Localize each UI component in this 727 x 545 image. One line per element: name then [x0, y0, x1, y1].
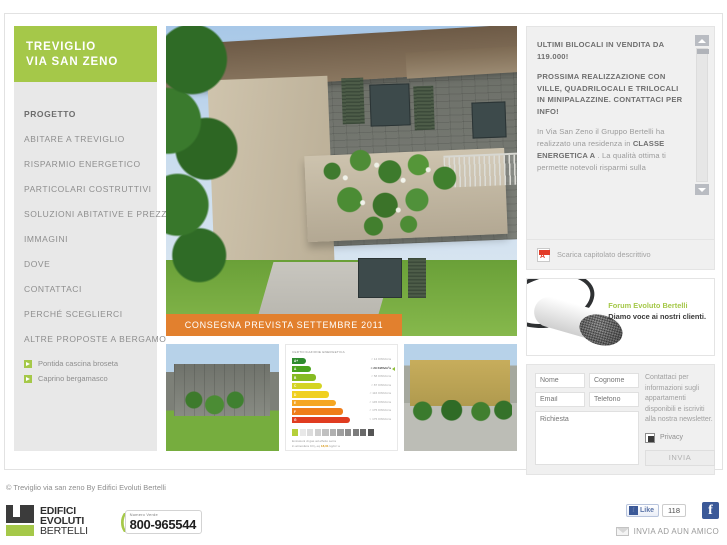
sidebar-nav: PROGETTO ABITARE A TREVIGLIO RISPARMIO E…	[14, 82, 157, 386]
co2-caption: Emissioni di gas ad effetto serra in atm…	[292, 439, 392, 448]
news-panel: ULTIMI BILOCALI IN VENDITA DA 119.000! P…	[526, 26, 715, 270]
co2-caption-suffix: kg/m² a	[329, 444, 340, 448]
arrow-right-icon	[24, 375, 32, 383]
hero-shutter-right	[413, 86, 435, 131]
toll-free-phone[interactable]: ( Numero Verde 800-965544	[120, 510, 202, 534]
thumbnail-strip: CERTIFICAZIONE ENERGETICA A+ < 14 KWh/m²…	[166, 344, 517, 451]
main-card: TREVIGLIO VIA SAN ZENO PROGETTO ABITARE …	[4, 13, 723, 470]
send-to-friend-label: INVIA AD AUN AMICO	[634, 527, 719, 536]
submit-button[interactable]: INVIA	[645, 450, 715, 466]
contact-row-1	[535, 373, 639, 388]
privacy-checkbox-row[interactable]: Privacy	[645, 433, 715, 443]
sidebar-title-line2: VIA SAN ZENO	[26, 55, 145, 70]
social-bar: f Like 118 f	[626, 502, 719, 519]
hero-shutter-ground	[408, 258, 426, 298]
hero-shutter-left	[341, 78, 365, 125]
logo-mark-icon	[6, 505, 34, 537]
company-logo: EDIFICI EVOLUTI BERTELLI	[6, 505, 88, 537]
phone-number: 800-965544	[130, 517, 196, 532]
forum-banner[interactable]: Forum Evoluto Bertelli Diamo voce ai nos…	[526, 278, 715, 356]
cert-row: D < 116 KWh/m²a	[292, 391, 392, 398]
telefono-field[interactable]	[589, 392, 639, 407]
co2-cell	[360, 429, 366, 437]
hero-image[interactable]: CONSEGNA PREVISTA SETTEMBRE 2011	[166, 26, 517, 336]
cert-bar-label: B	[292, 374, 316, 380]
sidebar-item-progetto[interactable]: PROGETTO	[14, 102, 157, 127]
contact-row-2	[535, 392, 639, 407]
facebook-like-button[interactable]: f Like	[626, 504, 659, 517]
co2-caption-prefix: in atmosfera CO₂ eq	[292, 444, 321, 448]
email-field[interactable]	[535, 392, 585, 407]
cert-bars: A+ < 14 KWh/m²a A < 29 KWh/m²a B < 58 KW…	[292, 357, 392, 424]
sidebar-sublink-label: Caprino bergamasco	[38, 374, 108, 383]
arrow-right-icon	[24, 360, 32, 368]
sidebar-item-immagini[interactable]: IMMAGINI	[14, 227, 157, 252]
cognome-field[interactable]	[589, 373, 639, 388]
cert-value: < 87 KWh/m²a	[371, 383, 391, 387]
pdf-icon	[537, 248, 550, 262]
news-body: In Via San Zeno il Gruppo Bertelli ha re…	[537, 126, 688, 174]
sidebar-header: TREVIGLIO VIA SAN ZENO	[14, 26, 157, 82]
scroll-up-icon[interactable]	[695, 35, 709, 46]
co2-caption-line2: in atmosfera CO₂ eq 18,01 kg/m² a	[292, 444, 392, 449]
sidebar-item-contattaci[interactable]: CONTATTACI	[14, 277, 157, 302]
sidebar-item-dove[interactable]: DOVE	[14, 252, 157, 277]
logo-m-shape	[6, 505, 34, 523]
like-count: 118	[662, 504, 686, 517]
co2-cell	[300, 429, 306, 437]
like-label: Like	[640, 507, 654, 514]
news-scrollbar[interactable]	[695, 35, 709, 195]
co2-cell	[353, 429, 359, 437]
left-sidebar: TREVIGLIO VIA SAN ZENO PROGETTO ABITARE …	[14, 26, 157, 451]
download-label: Scarica capitolato descrittivo	[557, 250, 651, 259]
sidebar-sublink-caprino[interactable]: Caprino bergamasco	[24, 371, 157, 386]
co2-cell	[368, 429, 374, 437]
sidebar-item-particolari-costruttivi[interactable]: PARTICOLARI COSTRUTTIVI	[14, 177, 157, 202]
thumbnail-esterno[interactable]	[404, 344, 517, 451]
sidebar-item-risparmio-energetico[interactable]: RISPARMIO ENERGETICO	[14, 152, 157, 177]
news-content: ULTIMI BILOCALI IN VENDITA DA 119.000! P…	[527, 27, 714, 239]
sidebar-sublink-pontida[interactable]: Pontida cascina broseta	[24, 356, 157, 371]
cert-row: G > 175 KWh/m²a	[292, 416, 392, 423]
forum-title: Forum Evoluto Bertelli	[608, 301, 706, 311]
cert-class-marker-icon	[392, 367, 395, 371]
co2-cell	[292, 429, 298, 437]
cert-bar-label: D	[292, 391, 329, 397]
cert-value: > 175 KWh/m²a	[369, 417, 391, 421]
cert-value: < 14 KWh/m²a	[371, 357, 391, 361]
sidebar-sublinks: Pontida cascina broseta Caprino bergamas…	[14, 356, 157, 386]
cert-row: A+ < 14 KWh/m²a	[292, 357, 392, 364]
co2-scale	[292, 429, 392, 437]
hero-window-right	[471, 101, 506, 138]
hero-window-upper	[369, 83, 410, 126]
sidebar-item-abitare-a-treviglio[interactable]: ABITARE A TREVIGLIO	[14, 127, 157, 152]
cert-row: A < 29 KWh/m²a	[292, 365, 392, 372]
cert-title: CERTIFICAZIONE ENERGETICA	[292, 350, 392, 354]
sidebar-item-perche-sceglierci[interactable]: PERCHÉ SCEGLIERCI	[14, 302, 157, 327]
sidebar-item-soluzioni-abitative-e-prezzi[interactable]: SOLUZIONI ABITATIVE E PREZZI	[14, 202, 157, 227]
cert-row: E < 145 KWh/m²a	[292, 399, 392, 406]
logo-green-bar	[6, 525, 34, 536]
cert-value: < 116 KWh/m²a	[370, 391, 391, 395]
forum-text: Forum Evoluto Bertelli Diamo voce ai nos…	[608, 301, 706, 322]
cert-bar-label: A+	[292, 358, 306, 364]
hero-tree	[166, 26, 252, 300]
forum-subtitle: Diamo voce ai nostri clienti.	[608, 311, 706, 322]
cert-row: C < 87 KWh/m²a	[292, 382, 392, 389]
send-to-friend-link[interactable]: INVIA AD AUN AMICO	[616, 527, 719, 536]
hero-window-ground	[358, 258, 402, 298]
cert-row: B < 58 KWh/m²a	[292, 374, 392, 381]
co2-cell	[330, 429, 336, 437]
co2-cell	[345, 429, 351, 437]
facebook-page-icon[interactable]: f	[702, 502, 719, 519]
cert-value-highlight: < 29 KWh/m²a	[371, 366, 391, 370]
richiesta-field[interactable]	[535, 411, 639, 465]
facebook-like-widget[interactable]: f Like 118	[626, 504, 686, 517]
privacy-label: Privacy	[660, 434, 683, 441]
cert-bar-label: G	[292, 417, 350, 423]
logo-line-3: BERTELLI	[40, 526, 88, 536]
cert-value: < 145 KWh/m²a	[369, 400, 391, 404]
co2-cell	[315, 429, 321, 437]
scroll-down-icon[interactable]	[695, 184, 709, 195]
sidebar-sublink-label: Pontida cascina broseta	[38, 359, 118, 368]
contact-side-text: Contattaci per informazioni sugli appart…	[645, 373, 715, 426]
page-root: TREVIGLIO VIA SAN ZENO PROGETTO ABITARE …	[0, 0, 727, 545]
contact-side: Contattaci per informazioni sugli appart…	[645, 373, 715, 466]
cert-value: < 175 KWh/m²a	[369, 408, 391, 412]
cert-value: < 58 KWh/m²a	[371, 374, 391, 378]
phone-box: Numero Verde 800-965544	[125, 510, 202, 534]
co2-cell	[322, 429, 328, 437]
cert-bar-label: F	[292, 408, 343, 414]
copyright-text: © Treviglio via san zeno By Edifici Evol…	[6, 483, 166, 492]
center-column: CONSEGNA PREVISTA SETTEMBRE 2011 CERTIFI…	[166, 26, 517, 451]
cert-bar-label: A	[292, 366, 311, 372]
logo-wordmark: EDIFICI EVOLUTI BERTELLI	[40, 505, 88, 536]
privacy-checkbox[interactable]	[645, 433, 655, 443]
sidebar-item-altre-proposte-a-bergamo[interactable]: ALTRE PROPOSTE A BERGAMO	[14, 327, 157, 352]
cert-row: F < 175 KWh/m²a	[292, 408, 392, 415]
thumbnail-certificazione[interactable]: CERTIFICAZIONE ENERGETICA A+ < 14 KWh/m²…	[285, 344, 398, 451]
contact-form-fields	[535, 373, 639, 466]
hero-flowering-vines	[312, 140, 477, 240]
scrollbar-thumb[interactable]	[697, 49, 709, 54]
news-headline-2: PROSSIMA REALIZZAZIONE CON VILLE, QUADRI…	[537, 71, 688, 117]
cert-bar-label: C	[292, 383, 322, 389]
mail-icon	[616, 527, 629, 536]
scrollbar-track[interactable]	[696, 48, 708, 182]
delivery-banner: CONSEGNA PREVISTA SETTEMBRE 2011	[166, 314, 402, 336]
nome-field[interactable]	[535, 373, 585, 388]
facebook-icon: f	[629, 506, 638, 515]
co2-cell	[307, 429, 313, 437]
download-capitolato-link[interactable]: Scarica capitolato descrittivo	[527, 239, 714, 269]
news-headline-1: ULTIMI BILOCALI IN VENDITA DA 119.000!	[537, 39, 688, 62]
sidebar-title-line1: TREVIGLIO	[26, 40, 145, 55]
co2-value: 18,01	[321, 444, 329, 448]
thumbnail-giardino[interactable]	[166, 344, 279, 451]
contact-form: Contattaci per informazioni sugli appart…	[526, 364, 715, 475]
cert-bar-label: E	[292, 400, 336, 406]
right-column: ULTIMI BILOCALI IN VENDITA DA 119.000! P…	[526, 26, 715, 451]
co2-cell	[337, 429, 343, 437]
